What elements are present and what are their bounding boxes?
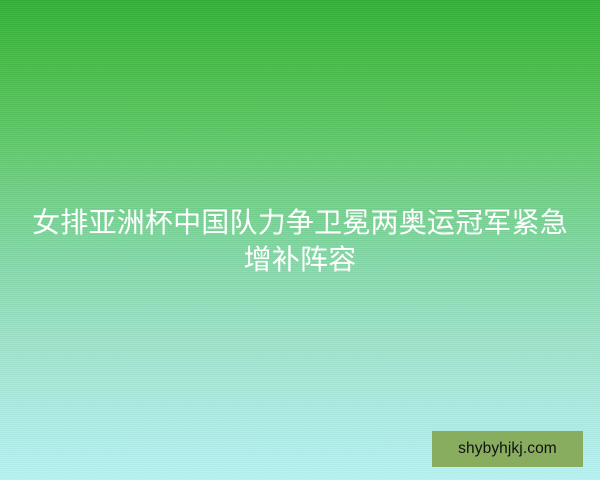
headline-text: 女排亚洲杯中国队力争卫冕两奥运冠军紧急增补阵容 xyxy=(26,204,574,278)
banner-image: 女排亚洲杯中国队力争卫冕两奥运冠军紧急增补阵容 shybyhjkj.com xyxy=(0,0,600,480)
watermark-plate: shybyhjkj.com xyxy=(432,431,583,467)
watermark-url-label: shybyhjkj.com xyxy=(458,441,557,457)
